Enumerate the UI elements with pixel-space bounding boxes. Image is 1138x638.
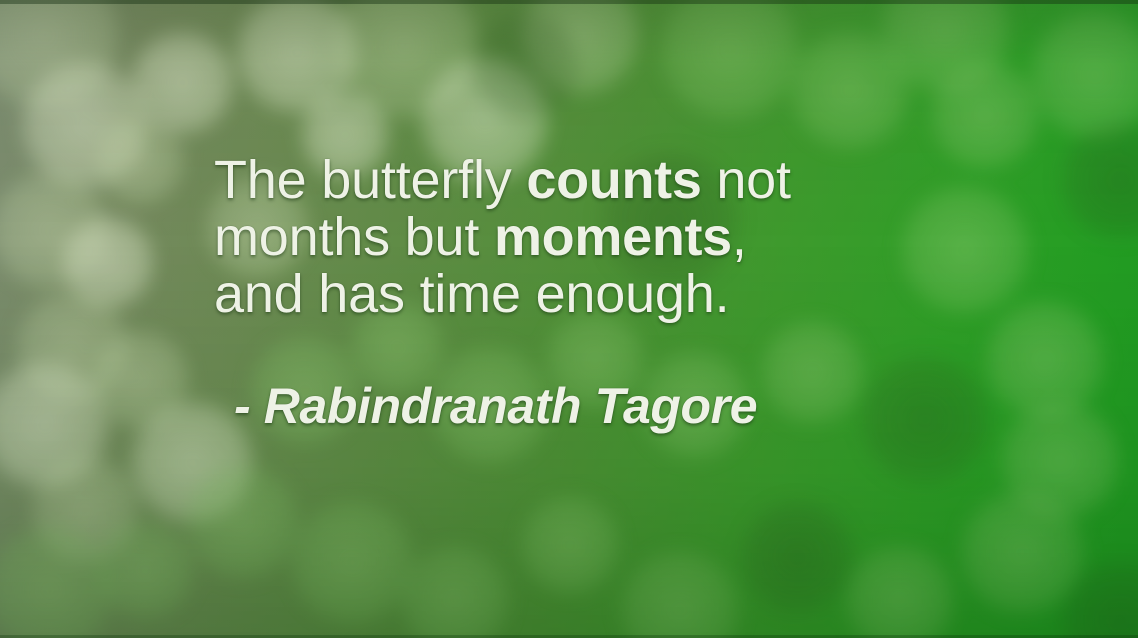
quote-line-1-part-1: The butterfly <box>214 150 526 210</box>
quote-attribution: - Rabindranath Tagore <box>214 378 1074 434</box>
quote-text: The butterfly counts not months but mome… <box>214 152 1074 323</box>
quote-card: The butterfly counts not months but mome… <box>0 0 1138 638</box>
quote-line-3: and has time enough. <box>214 266 1074 323</box>
quote-emphasis-moments: moments <box>494 207 732 267</box>
quote-line-1: The butterfly counts not <box>214 152 1074 209</box>
quote-line-1-part-2: not <box>702 150 791 210</box>
quote-emphasis-counts: counts <box>526 150 701 210</box>
quote-content: The butterfly counts not months but mome… <box>214 152 1074 434</box>
top-band <box>0 0 1138 4</box>
quote-line-2: months but moments, <box>214 209 1074 266</box>
quote-line-2-part-2: , <box>732 207 747 267</box>
quote-line-2-part-1: months but <box>214 207 494 267</box>
